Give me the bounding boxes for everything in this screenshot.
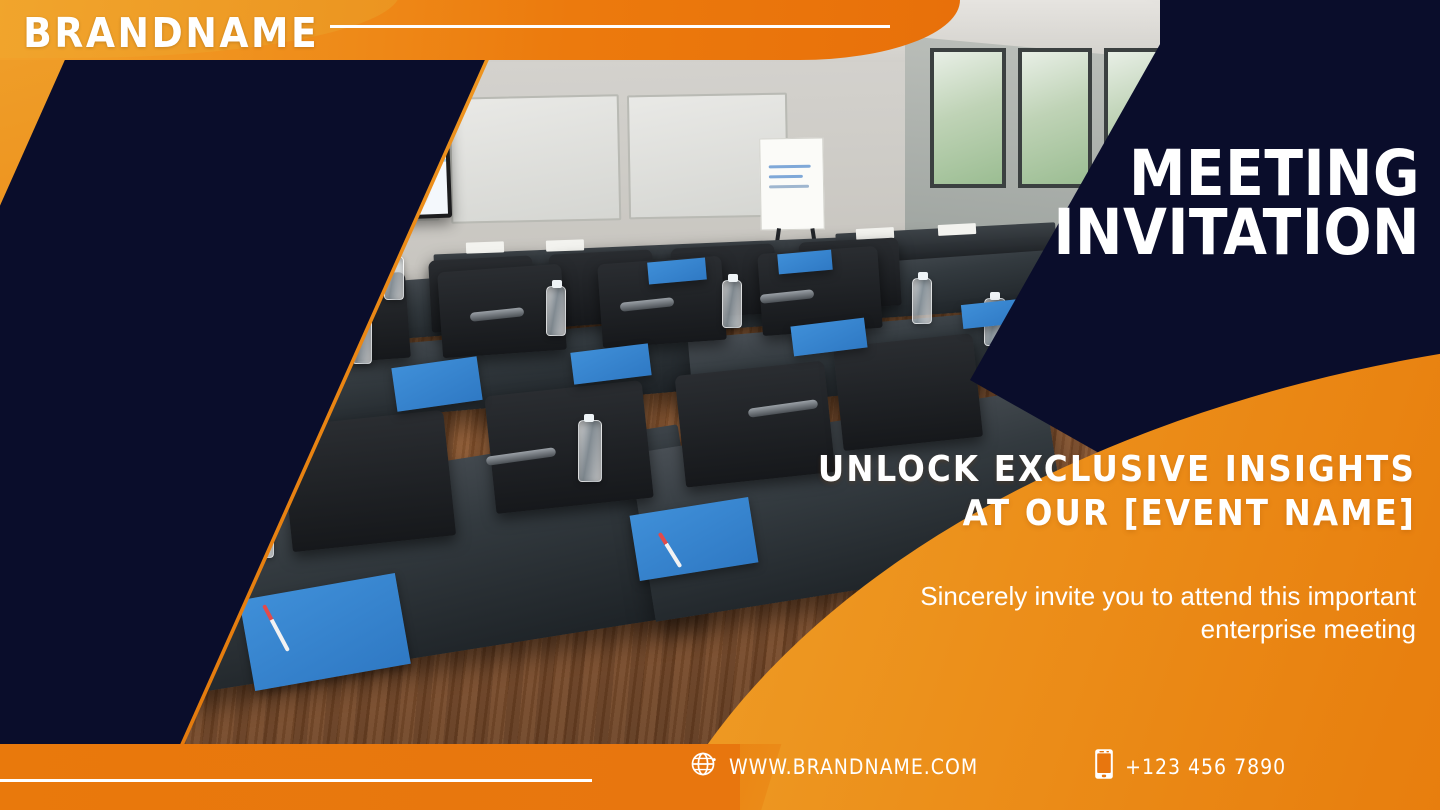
water-bottle (546, 286, 566, 336)
name-card (466, 241, 504, 253)
phone-contact[interactable]: +123 456 7890 (1094, 748, 1286, 785)
meeting-invitation-poster: BRANDNAME MEETING INVITATION UNLOCK EXCL… (0, 0, 1440, 810)
footer-contacts: WWW.BRANDNAME.COM +123 456 7890 (690, 748, 1286, 785)
top-divider-line (330, 25, 890, 28)
bottom-orange-bar (0, 744, 740, 810)
headline-line-1: UNLOCK EXCLUSIVE INSIGHTS (818, 449, 1416, 490)
bottom-divider-line (0, 779, 592, 782)
subtitle-line-1: Sincerely invite you to attend this impo… (920, 581, 1416, 611)
headline-line-2: AT OUR [EVENT NAME] (796, 492, 1416, 536)
flip-chart (759, 137, 825, 230)
water-bottle (912, 278, 932, 324)
office-chair (833, 333, 983, 451)
office-chair (484, 380, 653, 514)
subtitle: Sincerely invite you to attend this impo… (776, 580, 1416, 647)
website-text: WWW.BRANDNAME.COM (729, 755, 978, 779)
phone-icon (1094, 748, 1114, 785)
water-bottle (722, 280, 742, 328)
headline: UNLOCK EXCLUSIVE INSIGHTS AT OUR [EVENT … (796, 448, 1416, 536)
water-bottle (578, 420, 602, 482)
title-line-2: INVITATION (820, 203, 1420, 262)
phone-text: +123 456 7890 (1125, 755, 1286, 779)
globe-icon (690, 750, 718, 783)
name-card (546, 239, 584, 251)
brand-name: BRANDNAME (23, 13, 319, 54)
website-contact[interactable]: WWW.BRANDNAME.COM (690, 750, 978, 783)
whiteboard (449, 94, 622, 224)
subtitle-line-2: enterprise meeting (776, 613, 1416, 646)
page-title: MEETING INVITATION (820, 144, 1420, 262)
